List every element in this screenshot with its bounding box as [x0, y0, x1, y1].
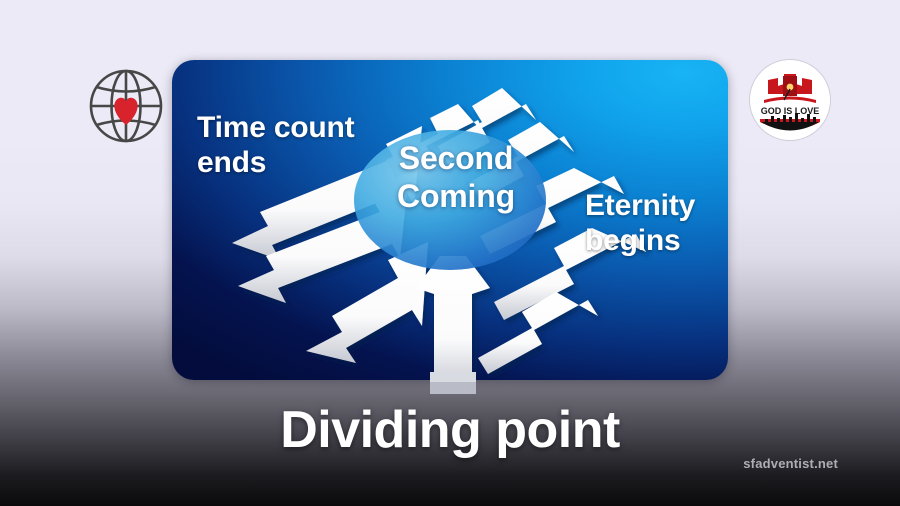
page-title: Dividing point	[0, 400, 900, 460]
label-eternity-begins: Eternity begins	[585, 188, 735, 259]
globe-heart-icon	[83, 63, 169, 149]
arrow-overflow-tail	[172, 372, 728, 400]
label-second-coming: Second Coming	[358, 140, 554, 216]
label-time-count-ends: Time count ends	[197, 110, 377, 181]
slide-canvas: GOD IS LOVE	[0, 0, 900, 506]
badge-label: GOD IS LOVE	[761, 106, 820, 116]
site-watermark: sfadventist.net	[743, 456, 838, 471]
god-is-love-badge-icon: GOD IS LOVE	[750, 60, 830, 140]
